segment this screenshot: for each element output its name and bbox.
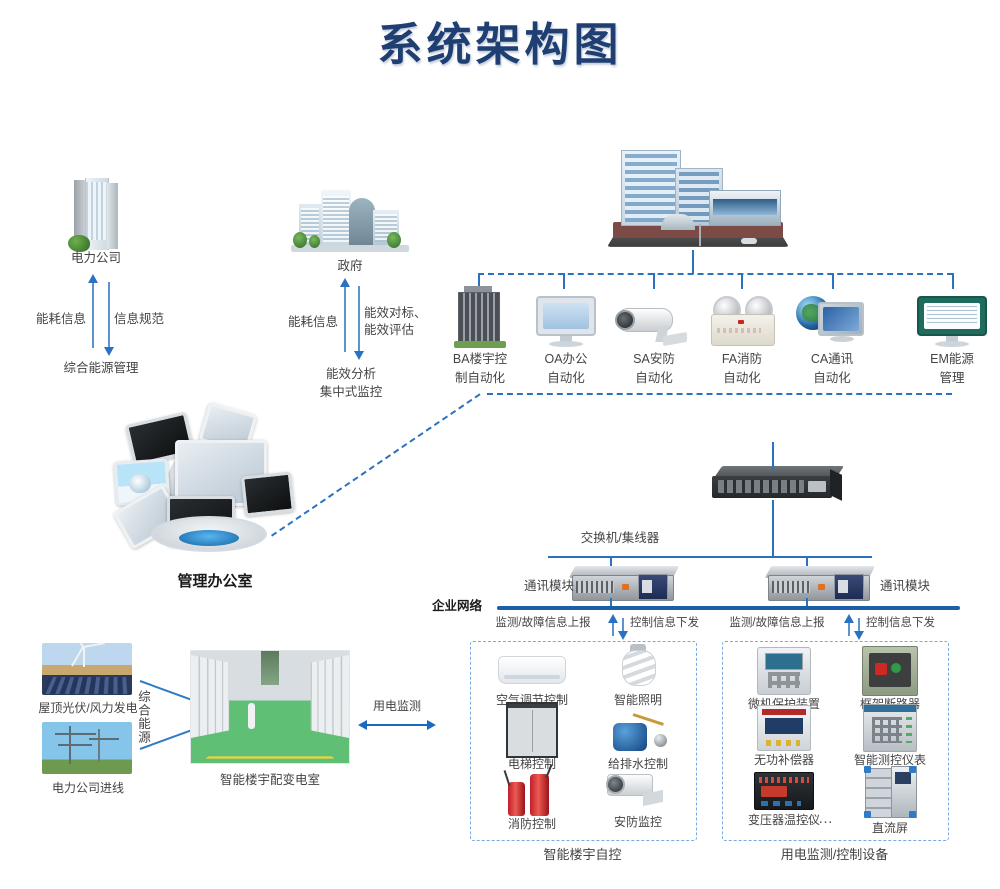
government-label: 政府 xyxy=(290,258,410,275)
group-left-item-5-label: 安防监控 xyxy=(586,814,690,830)
subsystem-ca[interactable]: CA通讯 自动化 xyxy=(772,286,892,387)
power-company-up-arrow-label: 能耗信息 xyxy=(16,311,86,328)
grid-line-label: 电力公司进线 xyxy=(28,780,148,796)
group-right-item-5[interactable]: 直流屏 xyxy=(838,764,942,836)
comm-module-left-label: 通讯模块 xyxy=(488,578,574,595)
power-grid-photo xyxy=(42,722,132,774)
integrated-energy-arrow-label: 综合能源 xyxy=(134,690,153,744)
substation-label: 智能楼宇配变电室 xyxy=(182,772,358,789)
group-left-item-4[interactable]: 消防控制 xyxy=(478,766,586,832)
air-circuit-breaker-icon xyxy=(838,646,942,696)
subsystem-ca-label-line2: 自动化 xyxy=(772,370,892,386)
surveillance-camera-icon xyxy=(586,770,690,814)
group-right-item-2-label: 无功补偿器 xyxy=(730,752,838,768)
power-company-down-arrow-label: 信息规范 xyxy=(114,311,194,328)
switch-downlink-line xyxy=(772,500,774,556)
air-conditioner-icon xyxy=(478,648,586,692)
flow-left-up-label: 监测/故障信息上报 xyxy=(478,616,608,632)
power-company-down-arrow xyxy=(108,282,110,348)
enterprise-network-label: 企业网络 xyxy=(432,598,502,615)
comm-module-right-label: 通讯模块 xyxy=(880,578,966,595)
office-building-icon xyxy=(608,148,788,252)
integrated-energy-management-label: 综合能源管理 xyxy=(28,360,174,377)
power-company-up-arrow xyxy=(92,282,94,348)
building-drop-line xyxy=(692,250,694,274)
flow-right-down-arrow xyxy=(858,618,860,632)
government-up-arrow xyxy=(344,286,346,352)
management-bus-line xyxy=(487,393,952,395)
power-monitoring-caption: 用电监测/控制设备 xyxy=(722,846,947,864)
smart-meter-icon xyxy=(838,704,942,752)
communication-module-left xyxy=(572,566,680,604)
group-left-item-5[interactable]: 安防监控 xyxy=(586,770,690,830)
building-automation-caption: 智能楼宇自控 xyxy=(470,846,695,864)
subsystem-em-label-line1: EM能源 xyxy=(892,351,1000,367)
group-right-item-3[interactable]: 智能测控仪表 xyxy=(838,704,942,768)
power-company-icon xyxy=(56,178,136,250)
flow-right-up-label: 监测/故障信息上报 xyxy=(712,616,842,632)
subsystem-em-label-line2: 管理 xyxy=(892,370,1000,386)
group-right-item-2[interactable]: 无功补偿器 xyxy=(730,704,838,768)
dc-power-panel-icon xyxy=(838,764,942,820)
flow-right-down-label: 控制信息下发 xyxy=(866,616,976,632)
government-down-arrow xyxy=(358,286,360,352)
power-company-label: 电力公司 xyxy=(36,250,156,267)
system-architecture-diagram: 系统架构图 电力公司 能耗信息 信息规范 综合能源管理 政府 能耗信息 能效对标… xyxy=(0,0,1000,889)
government-icon xyxy=(290,186,410,252)
transformer-temp-controller-icon xyxy=(730,770,838,812)
flow-right-up-arrow xyxy=(848,622,850,636)
centralized-monitoring-label: 集中式监控 xyxy=(296,384,406,401)
comm-distribution-bus xyxy=(548,556,872,558)
group-right-item-1[interactable]: 框架断路器 xyxy=(838,646,942,712)
rooftop-pv-wind-photo xyxy=(42,643,132,695)
government-up-arrow-label: 能耗信息 xyxy=(268,314,338,331)
water-valve-icon xyxy=(586,704,690,756)
management-office-label: 管理办公室 xyxy=(120,572,310,592)
cfl-bulb-icon xyxy=(586,644,690,692)
flow-left-up-arrow xyxy=(612,622,614,636)
protection-relay-icon xyxy=(730,646,838,696)
subsystem-bus-line xyxy=(478,273,953,275)
flow-left-down-arrow xyxy=(622,618,624,632)
group-left-item-2[interactable]: 电梯控制 xyxy=(478,704,586,772)
elevator-icon xyxy=(478,704,586,756)
subsystem-ca-label-line1: CA通讯 xyxy=(772,351,892,367)
group-left-item-1[interactable]: 智能照明 xyxy=(586,644,690,708)
page-title: 系统架构图 xyxy=(0,8,1000,73)
fire-extinguisher-icon xyxy=(478,766,586,816)
globe-monitor-icon xyxy=(772,286,892,348)
reactive-compensator-icon xyxy=(730,704,838,752)
network-switch-icon xyxy=(712,466,842,506)
energy-monitor-icon xyxy=(892,286,1000,348)
group-left-item-0[interactable]: 空气调节控制 xyxy=(478,648,586,708)
management-office-icon xyxy=(115,412,315,562)
group-right-item-5-label: 直流屏 xyxy=(838,820,942,836)
energy-analysis-label: 能效分析 xyxy=(296,366,406,383)
subsystem-em[interactable]: EM能源 管理 xyxy=(892,286,1000,387)
group-left-item-3[interactable]: 给排水控制 xyxy=(586,704,690,772)
power-monitoring-arrow-label: 用电监测 xyxy=(352,698,442,714)
pv-wind-label: 屋顶光伏/风力发电 xyxy=(24,700,152,716)
enterprise-network-bar xyxy=(497,606,960,610)
group-right-ellipsis: …… xyxy=(800,810,836,827)
power-monitoring-double-arrow xyxy=(366,724,428,726)
communication-module-right xyxy=(768,566,876,604)
switch-label: 交换机/集线器 xyxy=(530,530,710,547)
substation-room-photo xyxy=(190,650,350,764)
group-right-item-0[interactable]: 微机保护装置 xyxy=(730,646,838,712)
switch-uplink-line xyxy=(772,442,774,470)
group-left-item-4-label: 消防控制 xyxy=(478,816,586,832)
